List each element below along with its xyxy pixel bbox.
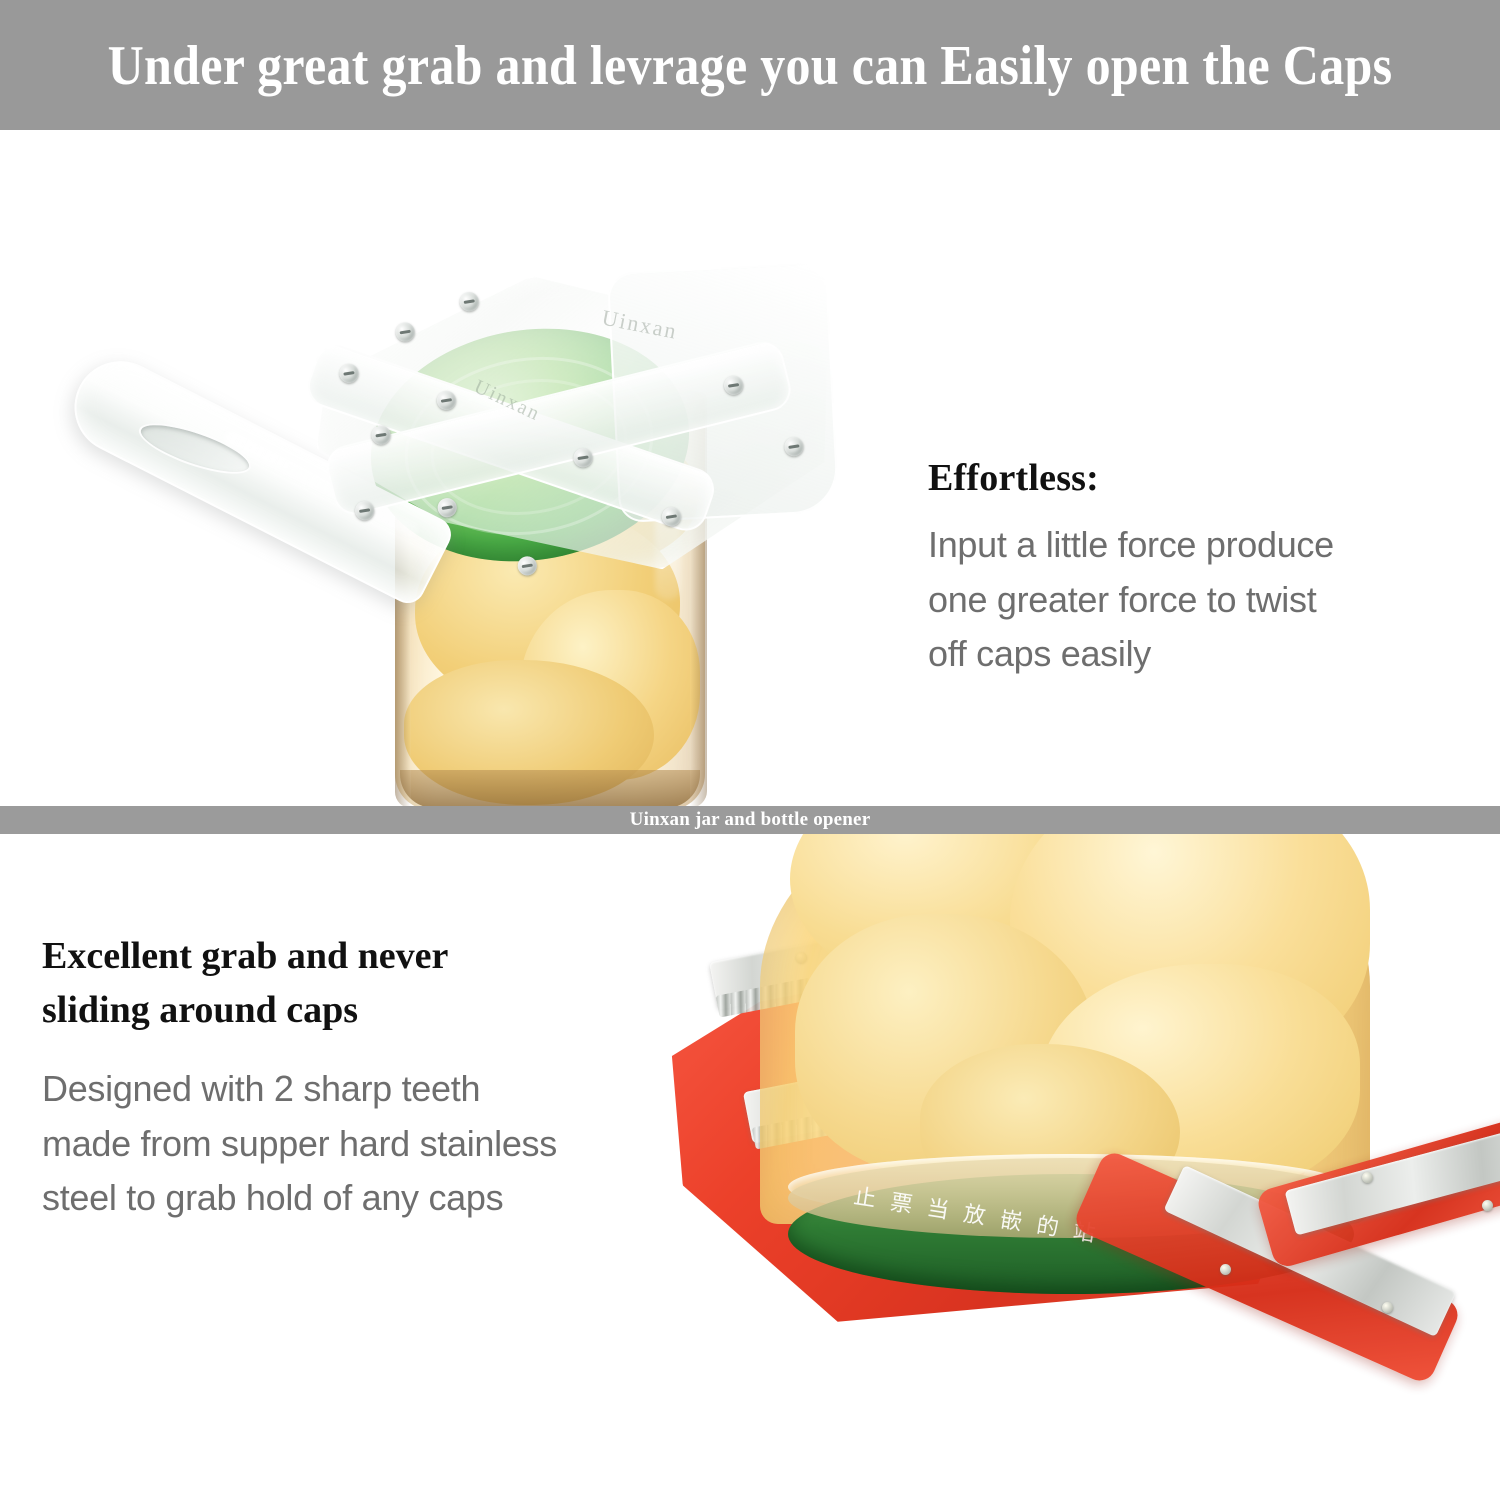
bottom-heading-line: sliding around caps [42,984,732,1038]
top-body: Input a little force produce one greater… [928,518,1473,682]
screw-icon [1362,1172,1373,1183]
bottom-heading: Excellent grab and never sliding around … [42,930,732,1038]
top-heading: Effortless: [928,456,1473,500]
divider-title: Uinxan jar and bottle opener [630,809,871,831]
bottom-body: Designed with 2 sharp teeth made from su… [42,1062,732,1226]
bottom-body-line: steel to grab hold of any caps [42,1171,732,1226]
rivet-icon [516,555,538,577]
top-text-block: Effortless: Input a little force produce… [928,456,1473,682]
bottom-body-line: Designed with 2 sharp teeth [42,1062,732,1117]
header-band: Under great grab and levrage you can Eas… [0,0,1500,130]
product-infographic: Under great grab and levrage you can Eas… [0,0,1500,1488]
top-body-line: Input a little force produce [928,518,1473,573]
screw-icon [1220,1264,1231,1275]
divider-band: Uinxan jar and bottle opener [0,806,1500,834]
opener-head-clear: Uinxan Uinxan [295,231,870,640]
screw-icon [1382,1302,1393,1313]
top-body-line: off caps easily [928,627,1473,682]
bottom-product-photo: 止 票 当 放 嵌 的 站 [620,834,1500,1488]
bottom-body-line: made from supper hard stainless [42,1117,732,1172]
bottom-panel: 止 票 当 放 嵌 的 站 Excellent grab and never s… [0,834,1500,1488]
top-product-photo: Uinxan Uinxan [0,130,900,806]
header-title: Under great grab and levrage you can Eas… [108,33,1393,98]
bottom-text-block: Excellent grab and never sliding around … [42,930,732,1226]
bottom-heading-line: Excellent grab and never [42,930,732,984]
syrup-layer [400,770,700,806]
top-body-line: one greater force to twist [928,573,1473,628]
top-panel: Uinxan Uinxan Effortless: Input a littl [0,130,1500,806]
screw-icon [1482,1200,1493,1211]
